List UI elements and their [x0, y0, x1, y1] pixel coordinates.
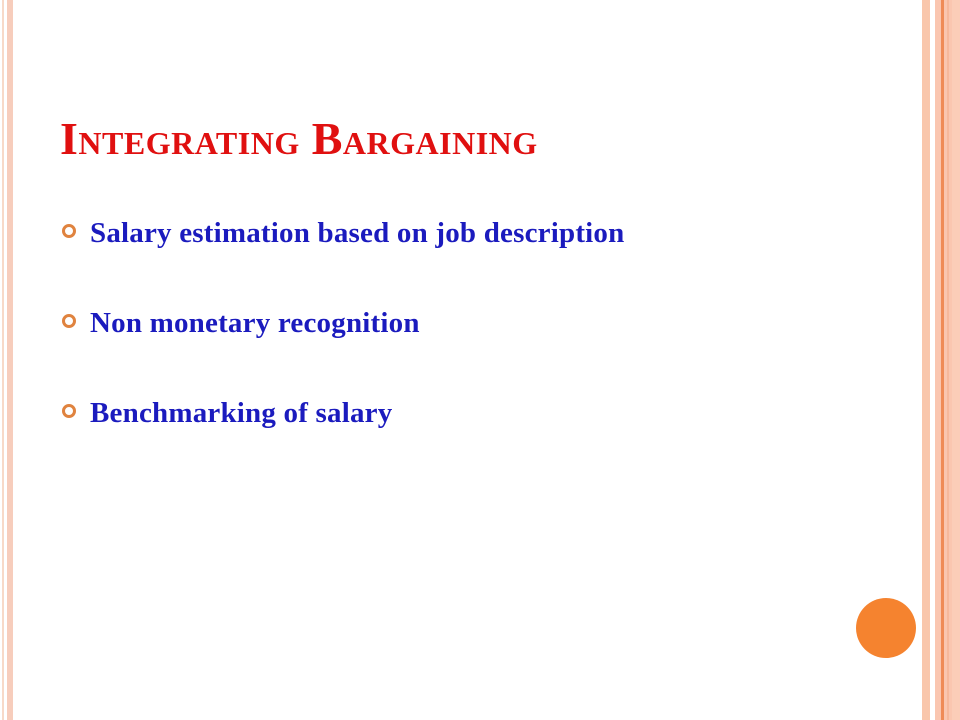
bullet-list: Salary estimation based on job descripti…: [62, 218, 882, 488]
orange-circle-decoration: [856, 598, 916, 658]
list-item: Non monetary recognition: [62, 308, 882, 340]
left-border-stripe-1: [2, 0, 4, 720]
list-item-label: Non monetary recognition: [90, 308, 420, 340]
list-item: Salary estimation based on job descripti…: [62, 218, 882, 250]
presentation-slide: Integrating Bargaining Salary estimation…: [0, 0, 960, 720]
right-border-stripe-4: [947, 0, 949, 720]
right-border-stripe-3: [941, 0, 944, 720]
right-border-stripe-5: [952, 0, 960, 720]
slide-title: Integrating Bargaining: [60, 115, 860, 163]
list-item-label: Benchmarking of salary: [90, 398, 392, 430]
list-item-label: Salary estimation based on job descripti…: [90, 218, 624, 250]
hollow-circle-bullet-icon: [62, 404, 76, 418]
left-border-stripe-2: [7, 0, 13, 720]
hollow-circle-bullet-icon: [62, 224, 76, 238]
list-item: Benchmarking of salary: [62, 398, 882, 430]
hollow-circle-bullet-icon: [62, 314, 76, 328]
right-border-stripe-1: [922, 0, 930, 720]
